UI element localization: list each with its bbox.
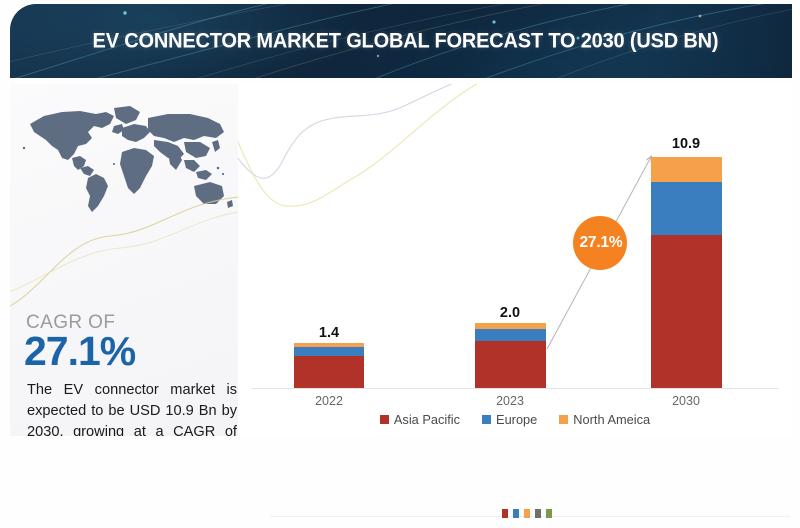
legend-label-north-ameica: North Ameica bbox=[573, 412, 650, 427]
legend-item-europe[interactable]: Europe bbox=[482, 412, 537, 427]
legend-label-asia-pacific: Asia Pacific bbox=[394, 412, 460, 427]
page-title-text: EV CONNECTOR MARKET GLOBAL FORECAST TO 2… bbox=[92, 29, 718, 54]
footer-dot-4 bbox=[535, 509, 541, 518]
footer-dot-1 bbox=[502, 509, 508, 518]
footer-dot-5 bbox=[546, 509, 552, 518]
legend-swatch-europe bbox=[482, 415, 491, 424]
bar-segment-europe-2030[interactable] bbox=[651, 182, 722, 235]
legend-label-europe: Europe bbox=[496, 412, 537, 427]
bar-segment-asia-pacific-2022[interactable] bbox=[294, 356, 364, 388]
plot-area: 1.4 2022 2.0 2023 10.9 2030 27.1% bbox=[238, 84, 792, 436]
footer-dot-3 bbox=[524, 509, 530, 518]
x-axis-line bbox=[252, 388, 778, 389]
page-title: EV CONNECTOR MARKET GLOBAL FORECAST TO 2… bbox=[10, 29, 792, 54]
x-tick-2030: 2030 bbox=[672, 394, 700, 408]
chart-legend: Asia Pacific Europe North Ameica bbox=[238, 412, 792, 427]
infographic-canvas: EV CONNECTOR MARKET GLOBAL FORECAST TO 2… bbox=[0, 0, 800, 528]
cagr-bubble-callout[interactable]: 27.1% bbox=[573, 216, 627, 270]
legend-swatch-asia-pacific bbox=[380, 415, 389, 424]
cagr-bubble-label: 27.1% bbox=[580, 234, 623, 252]
legend-item-asia-pacific[interactable]: Asia Pacific bbox=[380, 412, 460, 427]
bar-segment-asia-pacific-2023[interactable] bbox=[475, 341, 546, 388]
panel-description: The EV connector market is expected to b… bbox=[27, 380, 237, 436]
bar-segment-north-ameica-2030[interactable] bbox=[651, 157, 722, 183]
legend-item-north-ameica[interactable]: North Ameica bbox=[559, 412, 650, 427]
bar-segment-europe-2023[interactable] bbox=[475, 329, 546, 341]
bar-total-label-2030: 10.9 bbox=[672, 136, 700, 152]
bar-2023[interactable] bbox=[475, 323, 546, 388]
bar-2022[interactable] bbox=[294, 343, 364, 388]
left-info-panel: CAGR OF 27.1% The EV connector market is… bbox=[10, 84, 238, 436]
footer-dot-2 bbox=[513, 509, 519, 518]
x-tick-2023: 2023 bbox=[496, 394, 524, 408]
bar-total-label-2023: 2.0 bbox=[500, 305, 520, 321]
panel-curve-decoration bbox=[10, 194, 238, 324]
bar-segment-europe-2022[interactable] bbox=[294, 347, 364, 356]
bar-segment-asia-pacific-2030[interactable] bbox=[651, 235, 722, 388]
header-banner: EV CONNECTOR MARKET GLOBAL FORECAST TO 2… bbox=[10, 4, 792, 78]
bar-2030[interactable] bbox=[651, 157, 722, 389]
x-tick-2022: 2022 bbox=[315, 394, 343, 408]
footer-dot-decoration bbox=[502, 509, 552, 518]
legend-swatch-north-ameica bbox=[559, 415, 568, 424]
chart-container: 1.4 2022 2.0 2023 10.9 2030 27.1% bbox=[238, 84, 792, 436]
cagr-value: 27.1% bbox=[24, 328, 135, 375]
bar-total-label-2022: 1.4 bbox=[319, 325, 339, 341]
